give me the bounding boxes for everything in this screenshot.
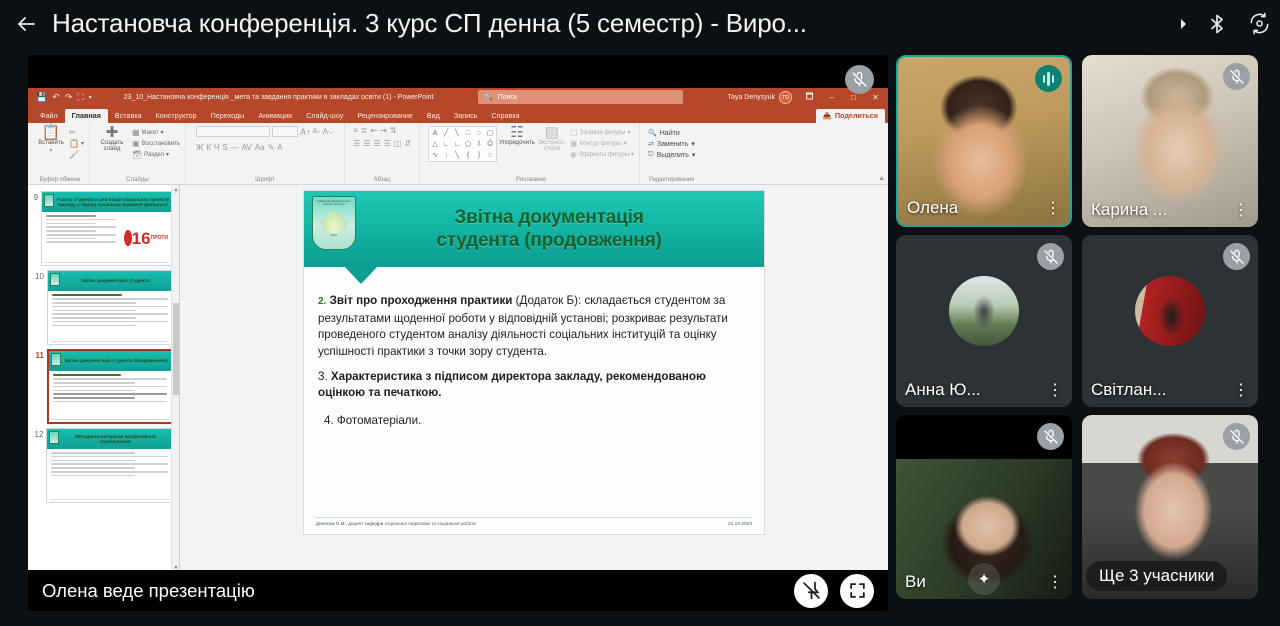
save-icon[interactable]: 💾 (36, 93, 47, 102)
avatar: TD (779, 91, 792, 104)
item-bold-text: Характеристика з підписом директора закл… (318, 370, 706, 399)
underline-button[interactable]: Ч (214, 143, 219, 152)
chevron-down-icon[interactable]: ▾ (692, 151, 696, 159)
share-label: Поделиться (835, 111, 878, 120)
back-arrow-icon[interactable] (0, 0, 52, 47)
share-icon: 📤 (823, 111, 832, 120)
tab-animations[interactable]: Анимация (251, 109, 299, 123)
star-shape[interactable]: ☆ (485, 150, 495, 160)
powerpoint-document-title: 23_10_Настановча конференція _мета та за… (124, 94, 434, 101)
emblem-text: Київський університет імені Бориса Грінч… (313, 200, 355, 206)
slide-canvas[interactable]: Київський університет імені Бориса Грінч… (180, 185, 888, 573)
rounded-rect-shape[interactable]: ▢ (485, 128, 495, 138)
thumbnail-slide-11[interactable]: 11 Звітна документація студента (продовж… (28, 347, 179, 426)
cut-button[interactable]: ✂ (69, 128, 84, 137)
shape-effects-label: Эффекты фигуры (579, 152, 629, 158)
ribbon-body[interactable]: 📋 Вставить ▾ ✂ 📋▾ 🖌 Буфер обмена (28, 123, 888, 185)
ribbon-group-label: Рисование (428, 177, 634, 184)
presenter-mic-off-icon (845, 65, 874, 94)
item-bold-text: Звіт про проходження практики (330, 294, 513, 307)
thumbnail-number: 10 (31, 270, 44, 281)
slide-footer-date: 21.10.2023 (728, 522, 752, 527)
active-slide[interactable]: Київський університет імені Бориса Грінч… (303, 190, 765, 535)
ribbon-group-label: Абзац (353, 177, 411, 184)
layout-icon: ▦ (132, 128, 140, 137)
ribbon-group-label: Шрифт (196, 177, 334, 184)
slide-item-2: 2. Звіт про проходження практики (Додато… (318, 293, 748, 360)
customize-icon[interactable]: ▾ (89, 95, 92, 101)
meeting-title: Настановча конференція. 3 курс СП денна … (52, 8, 1170, 39)
wave-shape[interactable]: ╲ (452, 150, 462, 160)
new-slide-button[interactable]: ✚ Создать слайд (95, 126, 129, 152)
numbering-icon[interactable]: ≣ (361, 126, 368, 135)
thumbnail-title: Звітна документація студента: (81, 278, 151, 284)
share-button[interactable]: 📤 Поделиться (816, 109, 885, 123)
slide-body[interactable]: 2. Звіт про проходження практики (Додато… (304, 267, 764, 430)
presenting-text: Олена веде презентацію (42, 580, 255, 602)
text-direction-icon[interactable]: ⇵ (404, 139, 411, 148)
section-label: Раздел (144, 152, 164, 158)
item-number: 2. (318, 296, 326, 307)
font-color-icon[interactable]: A (277, 143, 282, 152)
left-brace-shape[interactable]: { (463, 150, 473, 160)
thumbnail-image[interactable]: Звітна документація студента: (47, 270, 173, 345)
presenting-bar: Олена веде презентацію (28, 570, 888, 611)
outline-icon: ▣ (570, 139, 578, 148)
shapes-gallery[interactable]: A ╱ ╲ □ ○ ▢ △ ∟ ∟ ⬠ ⇩ ⎙ ∿ (428, 126, 497, 162)
right-brace-shape[interactable]: } (474, 150, 484, 160)
restore-window-icon[interactable]: 🗖 (799, 88, 820, 107)
effects-icon: ◉ (570, 150, 577, 159)
shape-fill-button[interactable]: ▢Заливка фигуры▾ (570, 128, 634, 137)
account-name: Taya Denysyuk (728, 94, 775, 101)
slide-title-line1: Звітна документація (436, 206, 661, 229)
powerpoint-search-input[interactable]: 🔍 Поиск (478, 90, 683, 104)
italic-button[interactable]: К (206, 143, 211, 152)
thumbnail-title: Методичні матеріали професійного спрямув… (61, 434, 170, 445)
select-label: Выделить (657, 152, 689, 159)
thumbnail-title: Участь студента в реалізації соціальних … (56, 197, 170, 208)
chevron-down-icon[interactable]: ▾ (166, 151, 169, 158)
line-spacing-icon[interactable]: ⇅ (390, 126, 397, 135)
find-label: Найти (660, 130, 680, 137)
chevron-down-icon[interactable]: ▾ (691, 140, 695, 148)
participant-name: Ви (905, 572, 926, 592)
redo-icon[interactable]: ↷ (65, 93, 73, 102)
shape-fill-label: Заливка фигуры (580, 130, 626, 136)
participant-tile-karina[interactable]: Карина ... ⋮ (1082, 55, 1258, 227)
slide-header: Київський університет імені Бориса Грінч… (304, 191, 764, 267)
clear-formatting-icon[interactable]: A⌵ (323, 127, 334, 137)
more-options-icon[interactable]: ⋮ (1047, 576, 1063, 590)
format-painter-button[interactable]: 🖌 (69, 150, 84, 159)
copy-icon: 📋 (69, 139, 79, 148)
change-case-icon[interactable]: Aa (255, 143, 265, 152)
thumbnail-title: Звітна документація студента (продовженн… (64, 358, 167, 364)
bluetooth-icon[interactable] (1196, 0, 1238, 47)
triangle-shape[interactable]: △ (430, 139, 440, 149)
paste-button[interactable]: 📋 Вставить ▾ (36, 126, 66, 154)
tab-record[interactable]: Запись (447, 109, 485, 123)
thumbnail-number: 9 (31, 191, 38, 202)
search-placeholder: Поиск (498, 94, 517, 101)
participant-tile-olena[interactable]: Олена ⋮ (896, 55, 1072, 227)
start-slideshow-icon[interactable]: ⛶ (77, 93, 83, 102)
quick-styles-button[interactable]: ▧ Экспресс-стили (537, 126, 567, 152)
copy-button[interactable]: 📋▾ (69, 139, 84, 148)
line-shape[interactable]: ╱ (441, 128, 451, 138)
tab-view[interactable]: Вид (420, 109, 447, 123)
avatar (1135, 276, 1205, 346)
tab-slideshow[interactable]: Слайд-шоу (299, 109, 350, 123)
emblem-icon (50, 273, 60, 286)
more-options-icon[interactable]: ⋮ (1233, 384, 1249, 398)
slide-item-3: 3. Характеристика з підписом директора з… (318, 369, 748, 401)
shape-outline-label: Контур фигуры (580, 141, 622, 147)
reset-icon: ▣ (132, 139, 140, 148)
chevron-down-icon[interactable]: ▾ (624, 140, 627, 147)
chevron-down-icon[interactable]: ▾ (627, 129, 630, 136)
tab-transitions[interactable]: Переходы (204, 109, 252, 123)
emblem-icon (44, 194, 54, 207)
search-icon: 🔍 (484, 93, 493, 101)
oval-shape[interactable]: ○ (474, 128, 484, 138)
find-button[interactable]: 🔍Найти (648, 129, 695, 137)
shadow-button[interactable]: S (222, 143, 227, 152)
arrange-button[interactable]: ☷ Упорядочить (500, 126, 534, 146)
ribbon-group-label: Буфер обмена (36, 177, 84, 184)
scissors-icon: ✂ (69, 128, 76, 137)
arrow-down-shape[interactable]: ⇩ (474, 139, 484, 149)
more-participants-label[interactable]: Ще 3 учасники (1086, 561, 1227, 591)
avatar (949, 276, 1019, 346)
thumbnail-scrollbar[interactable]: ▲ ▼ (171, 185, 179, 573)
item-number: 4. (324, 414, 334, 427)
switch-camera-icon[interactable] (1238, 0, 1280, 47)
thumbnail-slide-12[interactable]: 12 Методичні матеріали професійного спря… (28, 426, 179, 505)
paintbrush-icon: 🖌 (69, 150, 79, 159)
arc-shape[interactable]: ﹞ (441, 150, 451, 160)
slide-footer-author: Денисюк О.М., доцент кафедри соціальної … (316, 521, 476, 526)
strikethrough-icon[interactable]: — (231, 143, 239, 152)
ribbon-group-label: Слайды (95, 177, 180, 184)
minimize-icon[interactable]: – (821, 88, 842, 107)
paste-label: Вставить (38, 140, 63, 146)
quick-styles-label: Экспресс-стили (537, 140, 567, 152)
participant-tile-self[interactable]: Ви ✦ ⋮ (896, 415, 1072, 599)
more-options-icon[interactable]: ⋮ (1047, 384, 1063, 398)
tab-insert[interactable]: Вставка (108, 109, 149, 123)
slide-title-line2: студента (продовження) (436, 229, 661, 252)
mic-off-icon (1037, 243, 1064, 270)
bullets-icon[interactable]: ≡ (353, 126, 358, 135)
participant-name: Олена (907, 198, 958, 218)
justify-icon[interactable]: ☰ (384, 139, 391, 148)
participant-name: Карина ... (1091, 200, 1167, 220)
meeting-screen: Настановча конференція. 3 курс СП денна … (0, 0, 1280, 626)
clipboard-icon: 📋 (42, 126, 61, 139)
textbox-shape[interactable]: A (430, 128, 440, 138)
item-number: 3. (318, 370, 328, 383)
participant-grid: Олена ⋮ Карина ... ⋮ Анна Ю... ⋮ (896, 55, 1266, 611)
arrow-shape[interactable]: ╲ (452, 128, 462, 138)
replace-label: Заменить (657, 141, 688, 148)
layout-button[interactable]: ▦Макет▾ (132, 128, 180, 137)
replace-button[interactable]: ⇄Заменить▾ (648, 140, 695, 148)
thumbnail-slide-9[interactable]: 9 Участь студента в реалізації соціальни… (28, 189, 179, 268)
reset-label: Восстановить (142, 141, 180, 147)
more-options-icon[interactable]: ⋮ (1045, 202, 1061, 216)
arrange-icon: ☷ (510, 126, 523, 139)
slide-thumbnail-panel[interactable]: 9 Участь студента в реалізації соціальни… (28, 185, 180, 573)
thumbnail-slide-10[interactable]: 10 Звітна документація студента: (28, 268, 179, 347)
powerpoint-account[interactable]: Taya Denysyuk TD (728, 91, 792, 104)
collapse-ribbon-icon[interactable]: ▲ (878, 175, 885, 182)
bold-button[interactable]: Ж (196, 143, 203, 152)
shape-effects-button[interactable]: ◉Эффекты фигуры▾ (570, 150, 634, 159)
decrease-font-size-icon[interactable]: A↓ (312, 128, 320, 135)
powerpoint-window: 💾 ↶ ↷ ⛶ ▾ 23_10_Настановча конференція _… (28, 88, 888, 570)
quick-styles-icon: ▧ (545, 126, 559, 139)
item-rest-text: Фотоматеріали. (337, 414, 421, 427)
mic-off-icon (1223, 243, 1250, 270)
participant-tile-svitlana[interactable]: Світлан... ⋮ (1082, 235, 1258, 407)
fullscreen-button[interactable] (840, 574, 874, 608)
scribble-shape[interactable]: ∿ (430, 150, 440, 160)
ribbon-group-editing: 🔍Найти ⇄Заменить▾ ⎋Выделить▾ Редактирова… (640, 123, 700, 184)
font-family-select[interactable] (196, 126, 270, 137)
thumbnail-image[interactable]: Участь студента в реалізації соціальних … (41, 191, 173, 266)
ribbon-group-slides: ✚ Создать слайд ▦Макет▾ ▣Восстановить 🗃Р… (90, 123, 186, 184)
curve-shape[interactable]: ∟ (441, 139, 451, 149)
align-left-icon[interactable]: ☰ (353, 139, 360, 148)
app-header: Настановча конференція. 3 курс СП денна … (0, 0, 1280, 47)
quick-access-toolbar[interactable]: 💾 ↶ ↷ ⛶ ▾ (30, 93, 96, 102)
shape-outline-button[interactable]: ▣Контур фигуры▾ (570, 139, 634, 148)
thumbnail-number: 11 (31, 349, 44, 360)
thumbnail-image-selected[interactable]: Звітна документація студента (продовженн… (47, 349, 173, 424)
chevron-down-icon[interactable]: ▾ (631, 151, 634, 158)
ribbon-tab-bar[interactable]: Файл Главная Вставка Конструктор Переход… (28, 107, 888, 123)
emblem-icon (51, 353, 61, 366)
emblem-year: 1874 (331, 234, 337, 237)
flowchart-shape[interactable]: ⎙ (485, 139, 495, 149)
ribbon-group-paragraph: ≡ ≣ ⇤ ⇥ ⇅ ☰ ☰ ☰ ☰ ◫ ⇵ (345, 123, 420, 184)
mic-off-icon (1223, 423, 1250, 450)
ribbon-group-drawing: A ╱ ╲ □ ○ ▢ △ ∟ ∟ ⬠ ⇩ ⎙ ∿ (420, 123, 640, 184)
mic-off-icon (1223, 63, 1250, 90)
search-icon: 🔍 (648, 129, 657, 137)
thumbnail-number: 12 (31, 428, 43, 439)
replace-icon: ⇄ (648, 140, 654, 148)
freeform-shape[interactable]: ∟ (452, 139, 462, 149)
rectangle-shape[interactable]: □ (463, 128, 473, 138)
slide-footer: Денисюк О.М., доцент кафедри соціальної … (316, 517, 752, 527)
mic-off-icon (1037, 423, 1064, 450)
participant-name: Світлан... (1091, 380, 1166, 400)
audio-active-icon (1035, 65, 1062, 92)
window-controls[interactable]: 🗖 – □ ✕ (799, 88, 886, 107)
select-button[interactable]: ⎋Выделить▾ (648, 151, 695, 159)
tab-home[interactable]: Главная (65, 109, 108, 123)
participant-tile-anna[interactable]: Анна Ю... ⋮ (896, 235, 1072, 407)
slide-title: Звітна документація студента (продовженн… (400, 206, 667, 252)
powerpoint-main-area: 9 Участь студента в реалізації соціальни… (28, 185, 888, 573)
character-spacing-icon[interactable]: AV (242, 143, 252, 152)
slide-item-4: 4. Фотоматеріали. (318, 413, 748, 430)
tab-review[interactable]: Рецензирование (350, 109, 420, 123)
pentagon-shape[interactable]: ⬠ (463, 139, 473, 149)
chevron-down-icon[interactable]: ▾ (161, 129, 164, 136)
sparkle-effects-icon[interactable]: ✦ (968, 563, 1000, 595)
ribbon-group-label: Редактирование (648, 177, 695, 184)
emblem-icon (49, 431, 59, 444)
new-slide-label: Создать слайд (95, 140, 129, 152)
participant-tile-overflow[interactable]: Ще 3 учасники (1082, 415, 1258, 599)
powerpoint-title-bar: 💾 ↶ ↷ ⛶ ▾ 23_10_Настановча конференція _… (28, 88, 888, 107)
scroll-up-icon[interactable]: ▲ (173, 187, 179, 193)
text-highlight-icon[interactable]: ✎ (268, 143, 275, 152)
font-size-select[interactable] (272, 126, 298, 137)
increase-indent-icon[interactable]: ⇥ (380, 126, 387, 135)
ribbon-group-font: A↑ A↓ A⌵ Ж К Ч S — AV Aa ✎ (186, 123, 345, 184)
participant-name: Анна Ю... (905, 380, 981, 400)
undo-icon[interactable]: ↶ (52, 93, 60, 102)
align-center-icon[interactable]: ☰ (363, 139, 370, 148)
campaign-graphic: 16ПРОТИ (124, 218, 168, 258)
new-slide-icon: ✚ (106, 126, 119, 139)
chevron-right-icon[interactable] (1170, 0, 1196, 47)
columns-icon[interactable]: ◫ (394, 139, 402, 148)
increase-font-size-icon[interactable]: A↑ (300, 127, 311, 137)
chevron-down-icon[interactable]: ▾ (49, 147, 52, 154)
tab-help[interactable]: Справка (484, 109, 526, 123)
thumbnail-image[interactable]: Методичні матеріали професійного спрямув… (46, 428, 173, 503)
decrease-indent-icon[interactable]: ⇤ (370, 126, 377, 135)
layout-label: Макет (142, 130, 159, 136)
unpin-button[interactable] (794, 574, 828, 608)
shared-screen-stage[interactable]: 💾 ↶ ↷ ⛶ ▾ 23_10_Настановча конференція _… (28, 55, 888, 611)
ribbon-group-clipboard: 📋 Вставить ▾ ✂ 📋▾ 🖌 Буфер обмена (31, 123, 90, 184)
arrange-label: Упорядочить (499, 140, 535, 146)
fill-icon: ▢ (570, 128, 578, 137)
more-options-icon[interactable]: ⋮ (1233, 204, 1249, 218)
tab-file[interactable]: Файл (33, 109, 65, 123)
reset-button[interactable]: ▣Восстановить (132, 139, 180, 148)
section-icon: 🗃 (132, 150, 142, 159)
scrollbar-thumb[interactable] (173, 303, 179, 395)
select-icon: ⎋ (648, 151, 654, 159)
section-button[interactable]: 🗃Раздел▾ (132, 150, 180, 159)
tab-design[interactable]: Конструктор (149, 109, 204, 123)
university-emblem-icon: Київський університет імені Бориса Грінч… (312, 196, 356, 250)
chevron-down-icon[interactable]: ▾ (81, 140, 84, 147)
align-right-icon[interactable]: ☰ (373, 139, 380, 148)
